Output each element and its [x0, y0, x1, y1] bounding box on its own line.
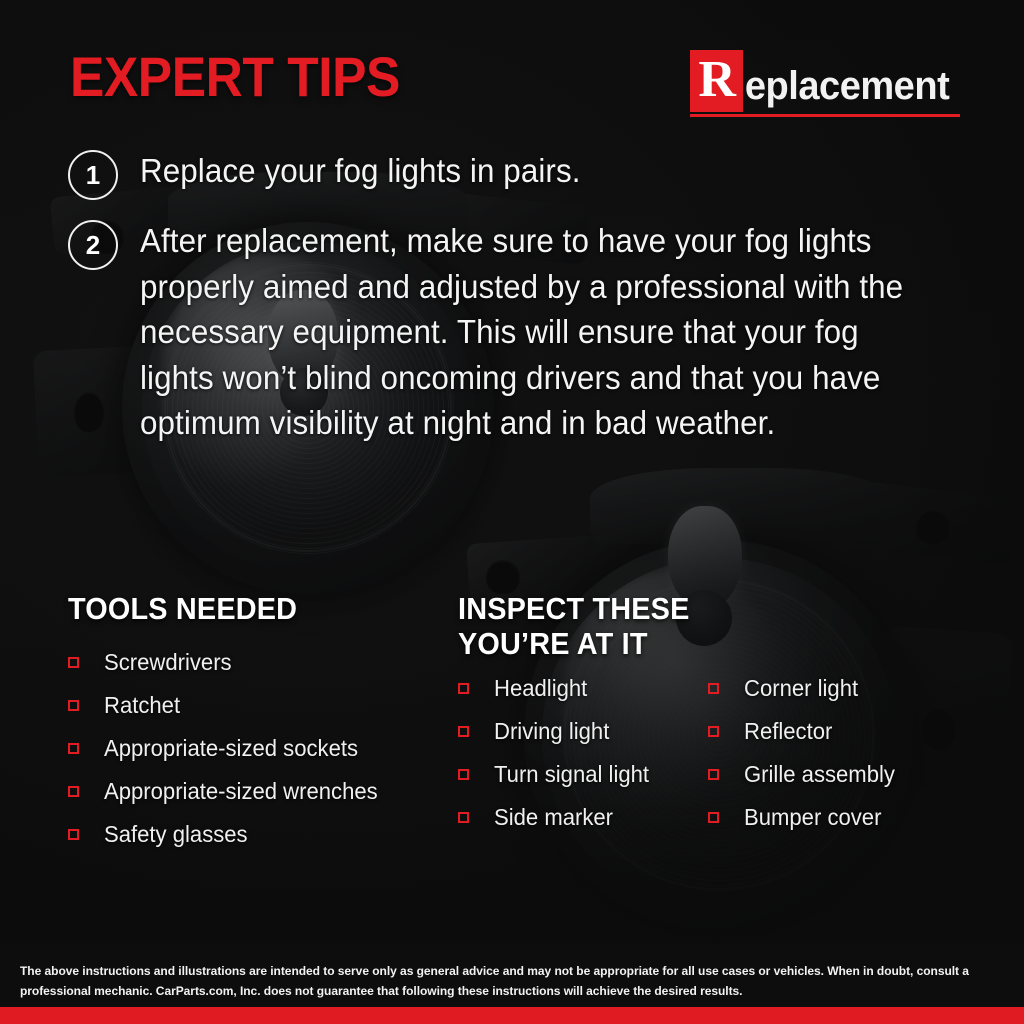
list-item-label: Reflector — [744, 718, 832, 745]
list-item-label: Headlight — [494, 675, 587, 702]
inspect-these-section: INSPECT THESE YOU’RE AT IT Headlight Dri… — [458, 592, 958, 864]
checkbox-icon[interactable] — [458, 683, 469, 694]
list-item[interactable]: Screwdrivers — [68, 649, 458, 676]
tip-number-badge: 2 — [68, 220, 118, 270]
inspect-heading-line-1: INSPECT THESE — [458, 592, 923, 627]
list-item-label: Screwdrivers — [104, 649, 232, 676]
list-item-label: Grille assembly — [744, 761, 895, 788]
infographic-canvas: EXPERT TIPS R eplacement 1 Replace your … — [0, 0, 1024, 1024]
list-item[interactable]: Safety glasses — [68, 821, 458, 848]
list-item[interactable]: Side marker — [458, 804, 708, 831]
logo-initial-badge: R — [690, 50, 743, 112]
list-item[interactable]: Grille assembly — [708, 761, 958, 788]
checkbox-icon[interactable] — [68, 743, 79, 754]
list-item[interactable]: Turn signal light — [458, 761, 708, 788]
checkbox-icon[interactable] — [708, 683, 719, 694]
checkbox-icon[interactable] — [708, 769, 719, 780]
list-item[interactable]: Ratchet — [68, 692, 458, 719]
logo-underline-rule — [690, 114, 960, 117]
page-title: EXPERT TIPS — [70, 44, 400, 109]
tip-item: 2 After replacement, make sure to have y… — [68, 218, 968, 446]
list-item-label: Side marker — [494, 804, 613, 831]
list-item-label: Safety glasses — [104, 821, 248, 848]
list-item[interactable]: Headlight — [458, 675, 708, 702]
list-item-label: Driving light — [494, 718, 609, 745]
logo-wordmark: eplacement — [743, 66, 949, 112]
checkbox-icon[interactable] — [458, 769, 469, 780]
disclaimer-text: The above instructions and illustrations… — [20, 961, 974, 1001]
inspect-heading-line-2: YOU’RE AT IT — [458, 627, 923, 662]
tip-text: Replace your fog lights in pairs. — [140, 148, 581, 194]
expert-tips-list: 1 Replace your fog lights in pairs. 2 Af… — [68, 148, 968, 464]
checkbox-icon[interactable] — [708, 726, 719, 737]
inspect-list-left: Headlight Driving light Turn signal ligh… — [458, 675, 708, 847]
tip-item: 1 Replace your fog lights in pairs. — [68, 148, 968, 200]
list-item-label: Bumper cover — [744, 804, 881, 831]
replacement-brand-logo: R eplacement — [690, 50, 960, 117]
list-item[interactable]: Bumper cover — [708, 804, 958, 831]
inspect-these-heading: INSPECT THESE YOU’RE AT IT — [458, 592, 923, 661]
content-layer: EXPERT TIPS R eplacement 1 Replace your … — [0, 0, 1024, 1024]
checklist-columns: TOOLS NEEDED Screwdrivers Ratchet Approp… — [68, 592, 968, 864]
list-item[interactable]: Reflector — [708, 718, 958, 745]
checkbox-icon[interactable] — [708, 812, 719, 823]
logo-row: R eplacement — [690, 50, 960, 112]
tip-text: After replacement, make sure to have you… — [140, 218, 927, 446]
list-item-label: Corner light — [744, 675, 858, 702]
list-item-label: Appropriate-sized sockets — [104, 735, 358, 762]
inspect-list-right: Corner light Reflector Grille assembly — [708, 675, 958, 847]
checkbox-icon[interactable] — [68, 829, 79, 840]
list-item[interactable]: Appropriate-sized wrenches — [68, 778, 458, 805]
list-item[interactable]: Driving light — [458, 718, 708, 745]
list-item[interactable]: Appropriate-sized sockets — [68, 735, 458, 762]
checkbox-icon[interactable] — [68, 657, 79, 668]
tools-needed-heading: TOOLS NEEDED — [68, 592, 431, 627]
checkbox-icon[interactable] — [68, 786, 79, 797]
tip-number-badge: 1 — [68, 150, 118, 200]
list-item-label: Turn signal light — [494, 761, 649, 788]
inspect-columns: Headlight Driving light Turn signal ligh… — [458, 675, 958, 847]
list-item-label: Appropriate-sized wrenches — [104, 778, 378, 805]
checkbox-icon[interactable] — [458, 812, 469, 823]
list-item[interactable]: Corner light — [708, 675, 958, 702]
list-item-label: Ratchet — [104, 692, 180, 719]
footer-accent-bar — [0, 1007, 1024, 1024]
tools-needed-list: Screwdrivers Ratchet Appropriate-sized s… — [68, 649, 458, 848]
tools-needed-section: TOOLS NEEDED Screwdrivers Ratchet Approp… — [68, 592, 458, 864]
checkbox-icon[interactable] — [68, 700, 79, 711]
checkbox-icon[interactable] — [458, 726, 469, 737]
